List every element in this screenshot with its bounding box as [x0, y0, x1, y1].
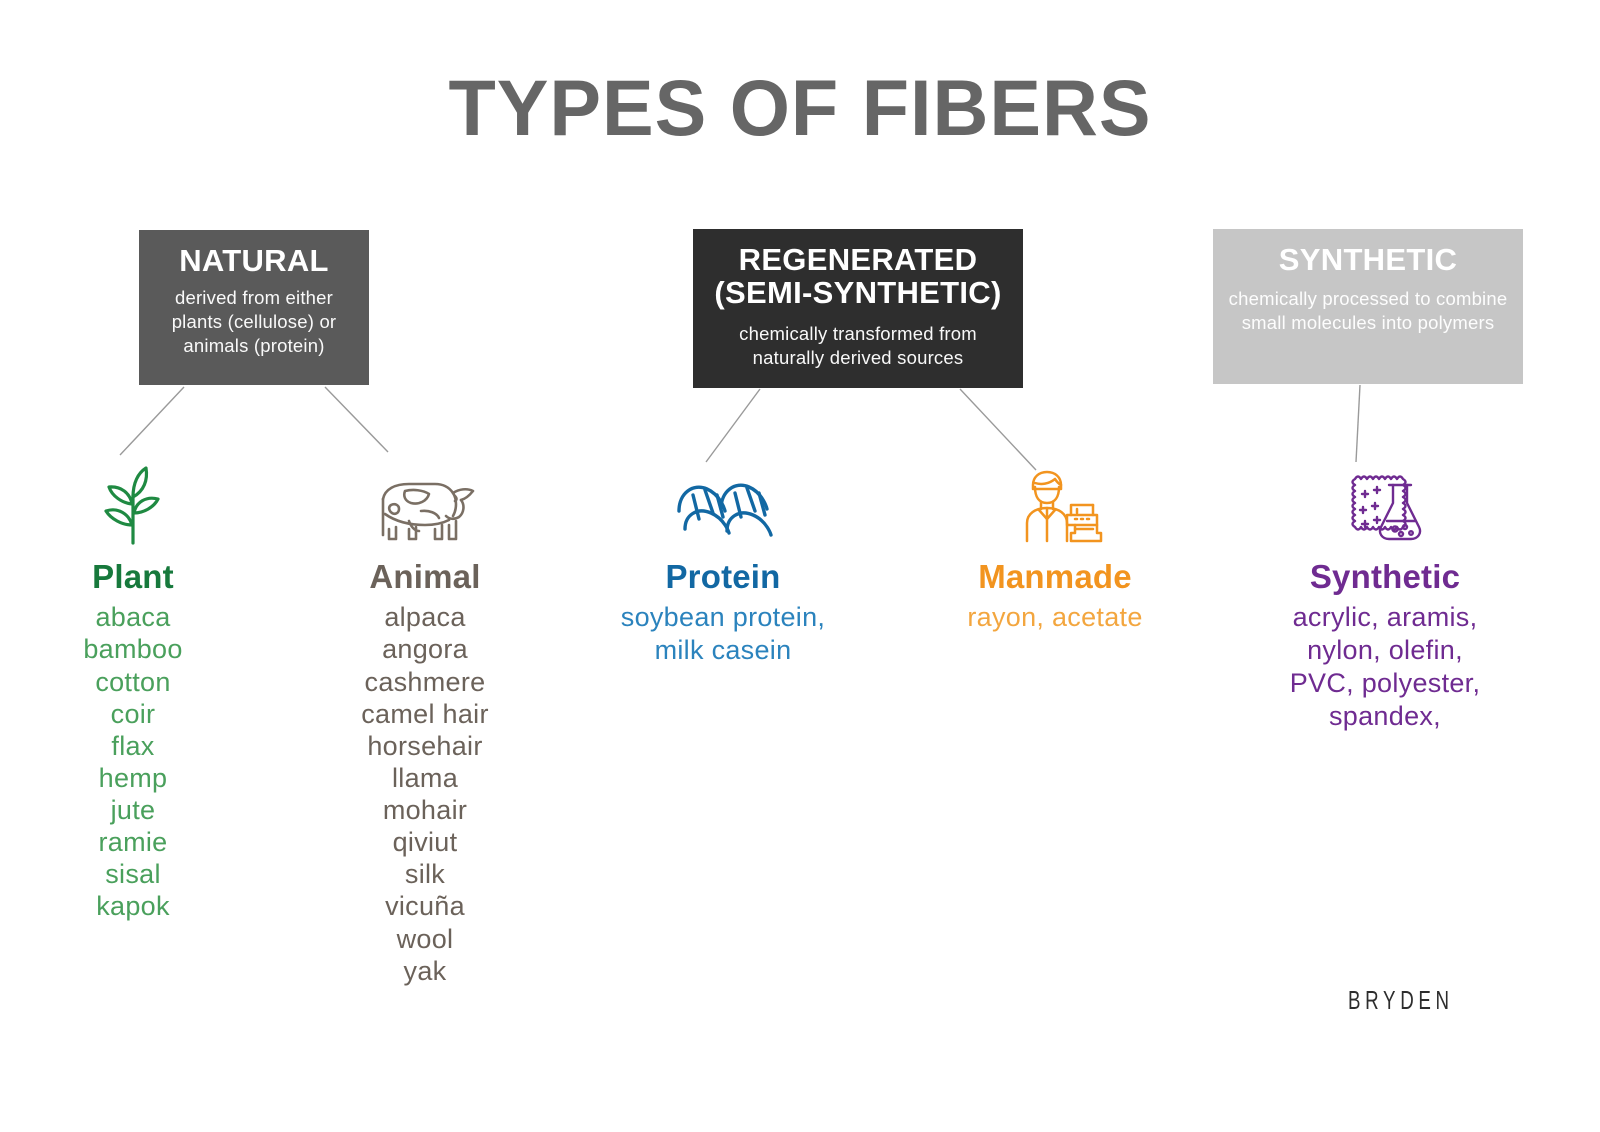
fiber-item: mohair: [320, 794, 530, 826]
fiber-list-animal: alpacaangoracashmerecamel hairhorsehairl…: [320, 601, 530, 987]
group-label-animal: Animal: [320, 559, 530, 595]
fiber-item: cotton: [43, 666, 223, 698]
fiber-item: PVC, polyester,: [1240, 667, 1530, 700]
plant-sprout-icon: [43, 463, 223, 549]
page-title: TYPES OF FIBERS: [16, 62, 1584, 154]
chemistry-flask-icon: [1240, 463, 1530, 549]
category-box-natural[interactable]: NATURAL derived from either plants (cell…: [139, 230, 369, 385]
fiber-item: milk casein: [578, 634, 868, 667]
fiber-list-plant: abacabamboocottoncoirflaxhempjuteramiesi…: [43, 601, 223, 922]
fiber-item: ramie: [43, 826, 223, 858]
category-description-synthetic: chemically processed to combine small mo…: [1223, 287, 1513, 334]
category-box-synthetic[interactable]: SYNTHETIC chemically processed to combin…: [1213, 229, 1523, 384]
category-title-synthetic: SYNTHETIC: [1223, 243, 1513, 276]
fiber-item: wool: [320, 923, 530, 955]
fiber-item: soybean protein,: [578, 601, 868, 634]
fiber-item: rayon, acetate: [930, 601, 1180, 634]
fiber-item: sisal: [43, 858, 223, 890]
fiber-item: yak: [320, 955, 530, 987]
fiber-item: jute: [43, 794, 223, 826]
fiber-item: abaca: [43, 601, 223, 633]
infographic-canvas: TYPES OF FIBERS NATURAL derived from eit…: [0, 0, 1600, 1132]
connector-natural-animal: [325, 387, 388, 452]
dna-helix-icon: [578, 463, 868, 549]
group-synthetic[interactable]: Synthetic acrylic, aramis,nylon, olefin,…: [1240, 463, 1530, 733]
fiber-item: vicuña: [320, 890, 530, 922]
category-box-regenerated[interactable]: REGENERATED (SEMI-SYNTHETIC) chemically …: [693, 229, 1023, 388]
group-plant[interactable]: Plant abacabamboocottoncoirflaxhempjuter…: [43, 463, 223, 923]
fiber-list-manmade: rayon, acetate: [930, 601, 1180, 634]
fiber-item: acrylic, aramis,: [1240, 601, 1530, 634]
connector-regenerated-manmade: [960, 389, 1036, 470]
fiber-item: llama: [320, 762, 530, 794]
fiber-item: alpaca: [320, 601, 530, 633]
fiber-item: kapok: [43, 890, 223, 922]
cow-icon: [320, 463, 530, 549]
brand-logo: BRYDEN: [1348, 985, 1454, 1016]
group-protein[interactable]: Protein soybean protein,milk casein: [578, 463, 868, 667]
fiber-item: coir: [43, 698, 223, 730]
group-label-plant: Plant: [43, 559, 223, 595]
fiber-list-synthetic: acrylic, aramis,nylon, olefin,PVC, polye…: [1240, 601, 1530, 733]
category-title-natural: NATURAL: [149, 244, 359, 277]
fiber-item: nylon, olefin,: [1240, 634, 1530, 667]
fiber-item: bamboo: [43, 633, 223, 665]
fiber-item: angora: [320, 633, 530, 665]
connector-natural-plant: [120, 387, 184, 455]
fiber-item: camel hair: [320, 698, 530, 730]
fiber-item: qiviut: [320, 826, 530, 858]
group-label-protein: Protein: [578, 559, 868, 595]
group-label-manmade: Manmade: [930, 559, 1180, 595]
group-animal[interactable]: Animal alpacaangoracashmerecamel hairhor…: [320, 463, 530, 987]
fiber-item: hemp: [43, 762, 223, 794]
fiber-item: flax: [43, 730, 223, 762]
group-label-synthetic: Synthetic: [1240, 559, 1530, 595]
category-title-regenerated-line2: (SEMI-SYNTHETIC): [703, 276, 1013, 309]
fiber-item: horsehair: [320, 730, 530, 762]
connector-synthetic-synthetic: [1356, 385, 1360, 462]
category-description-regenerated: chemically transformed from naturally de…: [703, 322, 1013, 369]
fiber-item: silk: [320, 858, 530, 890]
group-manmade[interactable]: Manmade rayon, acetate: [930, 463, 1180, 634]
fiber-item: cashmere: [320, 666, 530, 698]
fiber-list-protein: soybean protein,milk casein: [578, 601, 868, 667]
category-description-natural: derived from either plants (cellulose) o…: [149, 286, 359, 357]
sewing-machine-operator-icon: [930, 463, 1180, 549]
connector-regenerated-protein: [706, 389, 760, 462]
fiber-item: spandex,: [1240, 700, 1530, 733]
category-title-regenerated-line1: REGENERATED: [703, 243, 1013, 276]
